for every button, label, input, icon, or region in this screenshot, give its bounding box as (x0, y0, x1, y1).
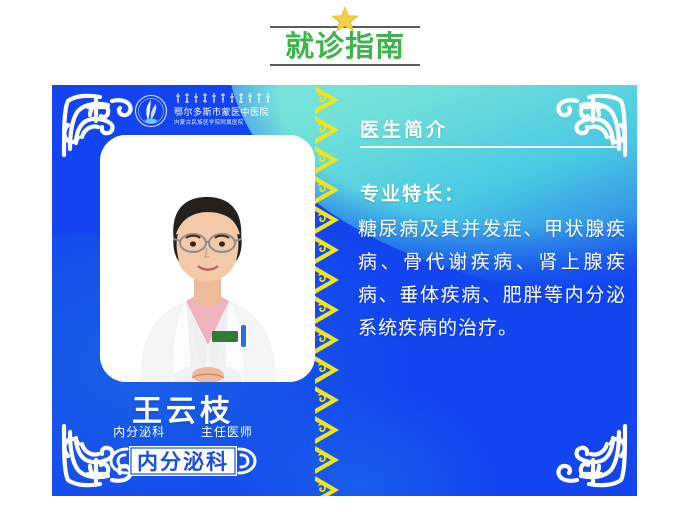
header-rule-bottom (270, 64, 420, 66)
doctor-card: 鄂尔多斯市蒙医中医院 内蒙古民族医学院附属医院 (52, 85, 637, 496)
specialty-label: 专业特长： (360, 179, 465, 206)
hospital-subtitle: 内蒙古民族医学院附属医院 (174, 118, 274, 126)
section-title: 医生简介 (360, 115, 448, 142)
doctor-department: 内分泌科 (113, 423, 165, 440)
doctor-portrait (100, 135, 315, 382)
doctor-title: 主任医师 (201, 423, 253, 440)
mongolian-script-icon (174, 92, 274, 104)
section-underline (360, 146, 618, 148)
page-title: 就诊指南 (278, 28, 412, 64)
profile-panel: 医生简介 专业特长： 糖尿病及其并发症、甲状腺疾病、骨代谢疾病、肾上腺疾病、垂体… (348, 85, 637, 496)
department-badge-label: 内分泌科 (107, 443, 259, 479)
department-badge[interactable]: 内分泌科 (107, 443, 259, 479)
hospital-name: 鄂尔多斯市蒙医中医院 (174, 105, 274, 118)
hospital-logo: 鄂尔多斯市蒙医中医院 内蒙古民族医学院附属医院 (134, 91, 274, 133)
specialty-text: 糖尿病及其并发症、甲状腺疾病、骨代谢疾病、肾上腺疾病、垂体疾病、肥胖等内分泌系统… (358, 213, 626, 345)
hospital-emblem-icon (134, 94, 168, 128)
doctor-meta: 内分泌科 主任医师 (52, 423, 314, 440)
page-header: 就诊指南 (0, 0, 690, 85)
doctor-photo-frame (100, 135, 315, 382)
mongolian-pattern-divider (314, 85, 340, 496)
